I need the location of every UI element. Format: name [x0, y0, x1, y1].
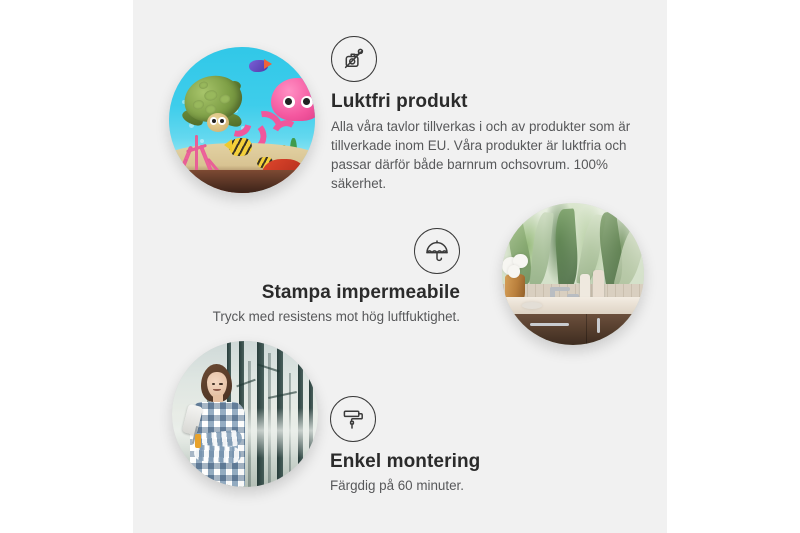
- product-image-bathroom[interactable]: [502, 203, 644, 345]
- vanity-cabinet: [513, 314, 644, 345]
- icon-wrapper: [160, 228, 460, 282]
- feature-body: Färgdig på 60 minuter.: [330, 476, 610, 495]
- woman-arm: [193, 444, 241, 463]
- feature-title: Enkel montering: [330, 451, 610, 473]
- sea-floor-shadow: [169, 170, 315, 193]
- underwater-scene: [169, 47, 315, 193]
- purple-fish-tail-icon: [264, 59, 272, 69]
- umbrella-icon: [414, 228, 460, 274]
- octopus-head-icon: [271, 78, 315, 122]
- bathroom-scene: [502, 203, 644, 345]
- faucet-icon: [550, 287, 570, 291]
- feature-body: Tryck med resistens mot hög luftfuktighe…: [160, 307, 460, 326]
- screenshot-root: Luktfri produkt Alla våra tavlor tillver…: [0, 0, 800, 533]
- feature-title: Luktfri produkt: [331, 91, 631, 113]
- feature-waterproof: Stampa impermeabile Tryck med resistens …: [160, 228, 460, 326]
- content-panel: Luktfri produkt Alla våra tavlor tillver…: [133, 0, 667, 533]
- paint-roller-icon: [330, 396, 376, 442]
- product-image-underwater[interactable]: [169, 47, 315, 193]
- painter-scene: [172, 341, 318, 487]
- feature-odourless: Luktfri produkt Alla våra tavlor tillver…: [331, 36, 631, 193]
- product-image-painter[interactable]: [172, 341, 318, 487]
- no-fragrance-icon: [331, 36, 377, 82]
- turtle-head-icon: [207, 113, 229, 132]
- feature-body: Alla våra tavlor tillverkas i och av pro…: [331, 117, 631, 193]
- cabinet-handle-icon: [630, 318, 633, 333]
- cabinet-handle-icon: [530, 323, 569, 326]
- paint-roller-handle-icon: [195, 434, 201, 447]
- cabinet-handle-icon: [597, 318, 600, 333]
- feature-title: Stampa impermeabile: [160, 282, 460, 304]
- feature-mounting: Enkel montering Färgdig på 60 minuter.: [330, 396, 610, 495]
